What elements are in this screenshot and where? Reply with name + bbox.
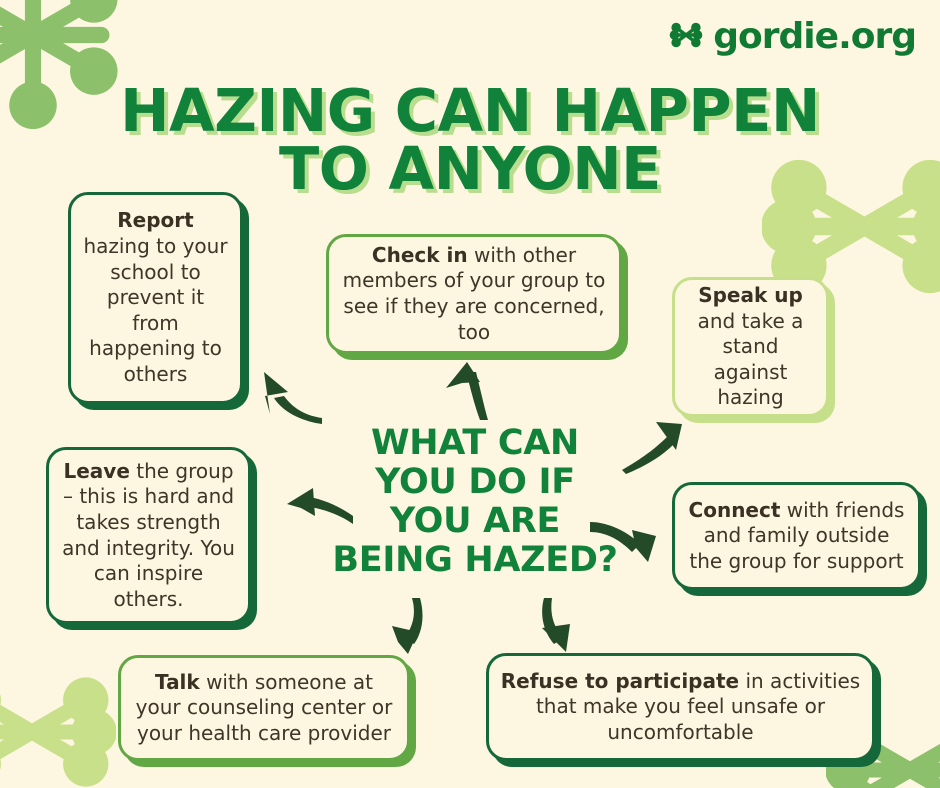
brand-logo[interactable]: gordie.org [669,18,916,56]
tip-body-speak-up: and take a stand against hazing [698,309,804,410]
arrow-to-report-icon [248,366,328,430]
center-question: WHAT CAN YOU DO IF YOU ARE BEING HAZED? [330,424,620,579]
tip-card-refuse: Refuse to participate in activities that… [486,653,875,761]
tip-lead-talk: Talk [155,670,200,694]
arrow-to-speakup-icon [620,418,692,476]
tip-card-leave: Leave the group – this is hard and takes… [46,447,251,624]
arrow-to-connect-icon [588,508,666,566]
tip-card-report: Report hazing to your school to prevent … [68,192,243,404]
arrow-to-refuse-icon [528,596,580,656]
tip-lead-speak-up: Speak up [698,283,803,307]
arrow-to-talk-icon [386,596,438,656]
tip-lead-refuse: Refuse to participate [501,669,739,693]
asterisk-star-icon [0,648,116,788]
infographic-canvas: gordie.org HAZING CAN HAPPEN TO ANYONE W… [0,0,940,788]
tip-lead-report: Report [117,208,193,232]
tip-card-speak-up: Speak up and take a stand against hazing [672,277,829,417]
arrow-to-checkin-icon [436,360,492,424]
brand-wordmark: gordie.org [713,19,916,55]
gordie-asterisk-icon [669,18,703,56]
tip-lead-connect: Connect [689,498,781,522]
tip-card-connect: Connect with friends and family outside … [672,482,921,590]
tip-lead-leave: Leave [63,459,129,483]
tip-lead-check-in: Check in [372,243,468,267]
tip-card-talk: Talk with someone at your counseling cen… [118,655,410,761]
tip-card-check-in: Check in with other members of your grou… [326,234,622,354]
tip-body-report: hazing to your school to prevent it from… [83,234,227,386]
arrow-to-leave-icon [283,482,357,530]
page-title: HAZING CAN HAPPEN TO ANYONE [0,82,940,199]
